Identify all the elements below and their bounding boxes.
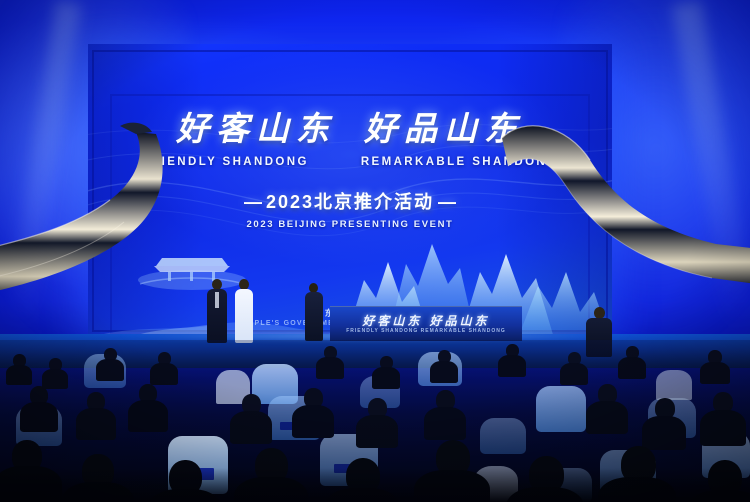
attendee-silhouette [42,358,68,388]
audience-area [0,340,750,502]
podium-sign-en: FRIENDLY SHANDONG REMARKABLE SHANDONG [330,328,522,334]
attendee-silhouette [316,346,344,378]
foreground-shadow [0,468,750,502]
attendee-silhouette [618,346,646,378]
attendee-silhouette [96,348,124,380]
conference-stage-photo: 好客山东 好品山东 FRIENDLY SHANDONG REMARKABLE S… [0,0,750,502]
attendee-silhouette [150,352,178,384]
attendee-silhouette [498,344,526,376]
podium-screen: 好客山东 好品山东 FRIENDLY SHANDONG REMARKABLE S… [330,306,522,341]
attendee-silhouette [700,392,746,446]
stage-person-staff [303,283,325,341]
attendee-silhouette [292,388,334,438]
subtitle-dash-right: — [438,192,456,212]
stage-person-female-host [232,279,256,343]
attendee-silhouette [430,350,458,382]
attendee-silhouette [128,384,168,432]
attendee-silhouette [76,392,116,440]
subtitle-cn: 2023北京推介活动 [266,192,434,212]
ribbon-decor-left [0,60,270,350]
attendee-silhouette [230,394,272,444]
attendee-silhouette [372,356,400,388]
attendee-silhouette [356,398,398,448]
podium-sign-cn: 好客山东 好品山东 [330,312,522,329]
attendee-silhouette [700,350,730,384]
attendee-silhouette [642,398,686,450]
attendee-silhouette [6,354,32,384]
attendee-silhouette [20,386,58,432]
chair-cover [536,386,586,432]
stage-person-male-host [205,279,229,343]
attendee-silhouette [560,352,588,384]
attendee-silhouette [586,384,628,434]
attendee-light-shirt [656,370,692,400]
ribbon-decor-right [486,20,750,320]
attendee-silhouette [424,390,466,440]
